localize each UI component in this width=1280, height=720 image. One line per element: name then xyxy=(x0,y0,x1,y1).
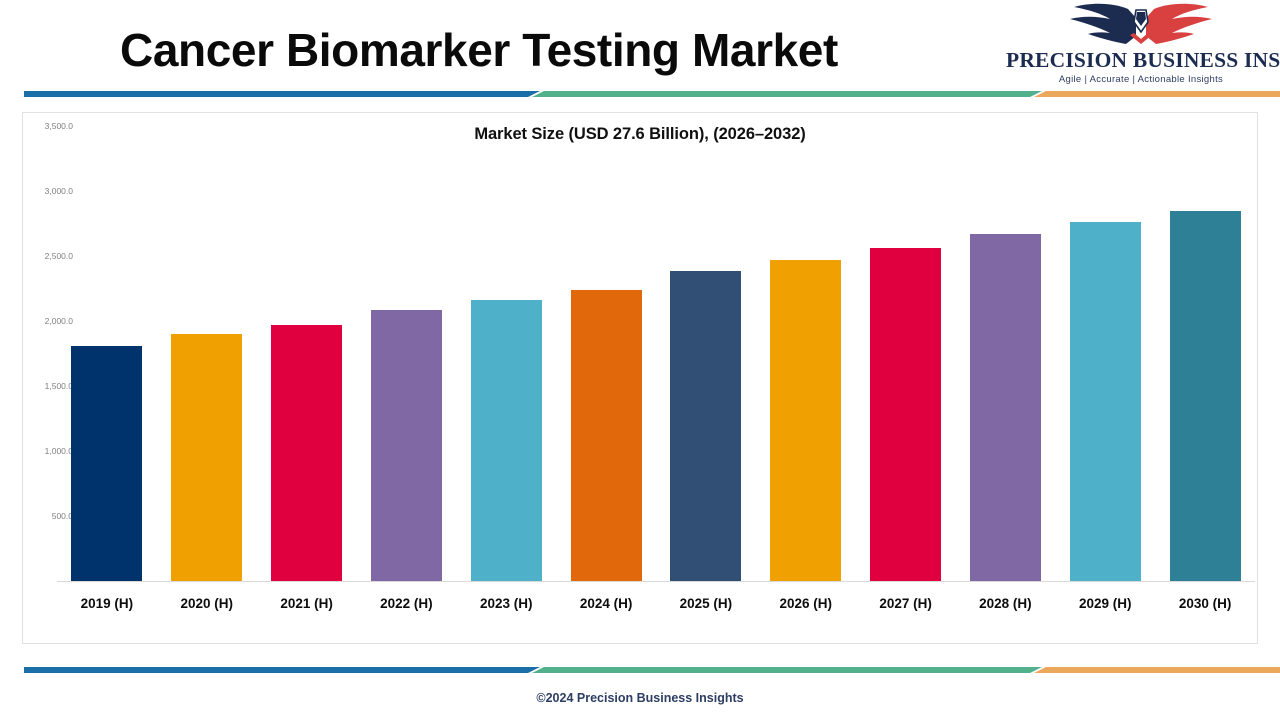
bar[interactable] xyxy=(770,260,841,581)
footer-copyright: ©2024 Precision Business Insights xyxy=(0,691,1280,705)
bar[interactable] xyxy=(870,248,941,581)
bar[interactable] xyxy=(670,271,741,581)
footer-divider xyxy=(0,664,1280,674)
x-axis-category-label: 2028 (H) xyxy=(956,596,1055,611)
x-axis-category-label: 2025 (H) xyxy=(656,596,755,611)
bar[interactable] xyxy=(371,310,442,581)
bar-group: 2028 (H) xyxy=(970,113,1041,581)
header-divider xyxy=(0,88,1280,98)
bar-group: 2025 (H) xyxy=(670,113,741,581)
x-axis-category-label: 2021 (H) xyxy=(257,596,356,611)
bar-group: 2022 (H) xyxy=(371,113,442,581)
bar[interactable] xyxy=(171,334,242,581)
bar[interactable] xyxy=(471,300,542,581)
bar[interactable] xyxy=(271,325,342,581)
bar[interactable] xyxy=(571,290,642,581)
divider-segment-green xyxy=(532,91,1042,97)
page-header: Cancer Biomarker Testing Market PRECISIO… xyxy=(0,0,1280,90)
x-axis-category-label: 2029 (H) xyxy=(1056,596,1155,611)
x-axis-category-label: 2026 (H) xyxy=(756,596,855,611)
bar-group: 2019 (H) xyxy=(71,113,142,581)
x-axis-category-label: 2019 (H) xyxy=(57,596,156,611)
bar-group: 2030 (H) xyxy=(1170,113,1241,581)
logo-company-name: PRECISION BUSINESS INSIGHTS xyxy=(1006,48,1276,73)
bar-group: 2023 (H) xyxy=(471,113,542,581)
x-axis-category-label: 2024 (H) xyxy=(557,596,656,611)
plot-area: 3,500.03,000.02,500.02,000.01,500.01,000… xyxy=(23,113,1259,645)
divider-segment-orange xyxy=(1034,91,1280,97)
bar-group: 2021 (H) xyxy=(271,113,342,581)
page-title: Cancer Biomarker Testing Market xyxy=(120,22,950,78)
divider-segment-blue xyxy=(24,667,540,673)
divider-segment-blue xyxy=(24,91,540,97)
bar[interactable] xyxy=(71,346,142,581)
divider-segment-green xyxy=(532,667,1042,673)
x-axis-category-label: 2023 (H) xyxy=(457,596,556,611)
chart-panel: Market Size (USD 27.6 Billion), (2026–20… xyxy=(22,112,1258,644)
bar-group: 2029 (H) xyxy=(1070,113,1141,581)
bar-group: 2020 (H) xyxy=(171,113,242,581)
bar-group: 2027 (H) xyxy=(870,113,941,581)
bar[interactable] xyxy=(970,234,1041,581)
bar-group: 2026 (H) xyxy=(770,113,841,581)
bar[interactable] xyxy=(1170,211,1241,582)
x-axis-category-label: 2022 (H) xyxy=(357,596,456,611)
x-axis-category-label: 2030 (H) xyxy=(1156,596,1255,611)
company-logo: PRECISION BUSINESS INSIGHTS Agile | Accu… xyxy=(1006,2,1276,90)
bar-group: 2024 (H) xyxy=(571,113,642,581)
x-axis-category-label: 2027 (H) xyxy=(856,596,955,611)
bar-series: 2019 (H)2020 (H)2021 (H)2022 (H)2023 (H)… xyxy=(57,113,1255,645)
divider-segment-orange xyxy=(1034,667,1280,673)
eagle-logo-icon xyxy=(1066,2,1216,48)
bar[interactable] xyxy=(1070,222,1141,581)
logo-tagline: Agile | Accurate | Actionable Insights xyxy=(1006,74,1276,85)
x-axis-category-label: 2020 (H) xyxy=(157,596,256,611)
